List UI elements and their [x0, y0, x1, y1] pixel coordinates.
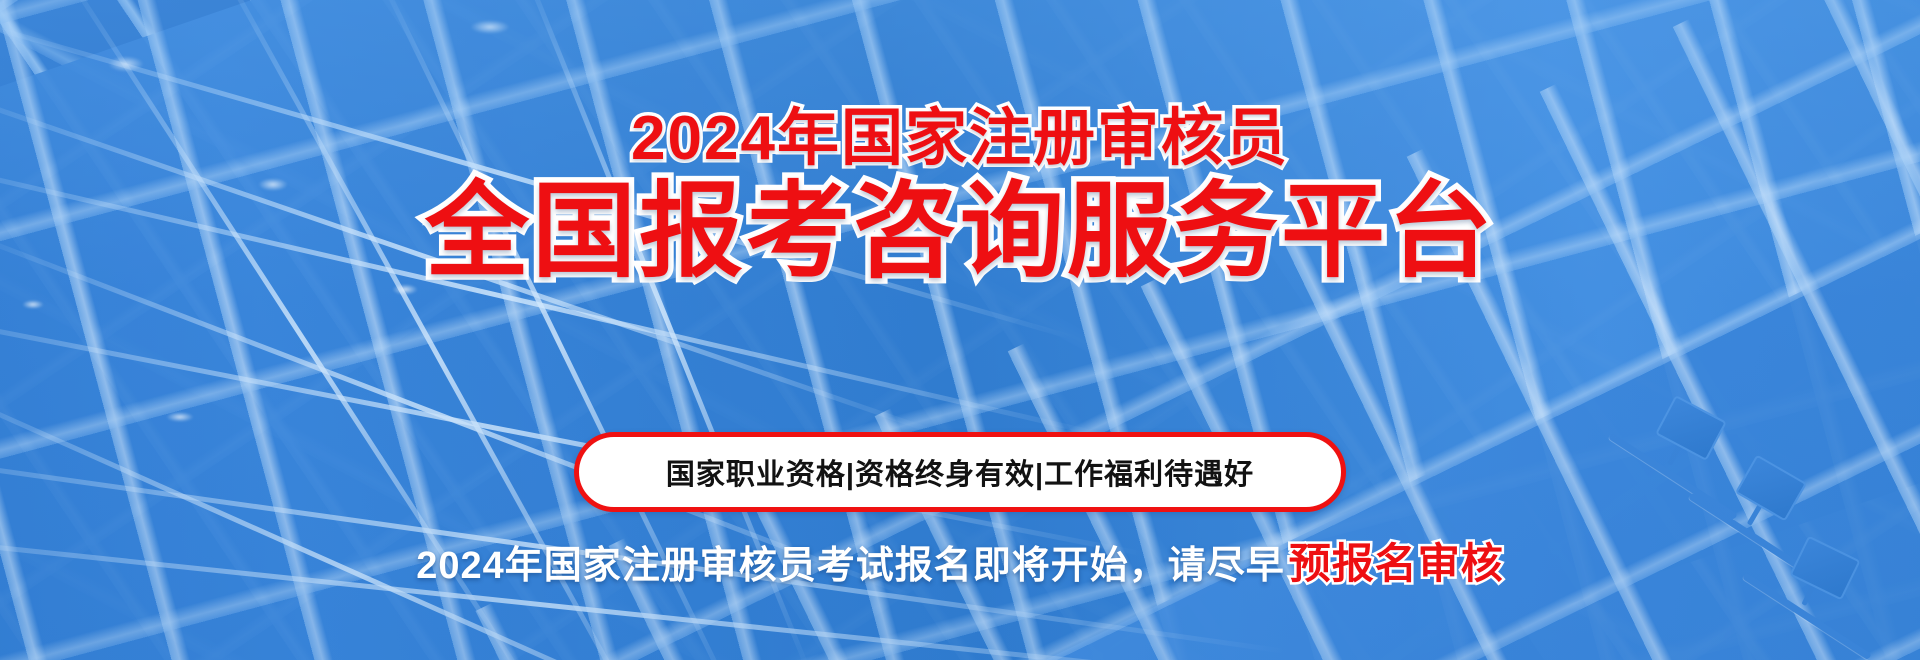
strapline: 2024年国家注册审核员考试报名即将开始，请尽早预报名审核	[0, 530, 1920, 591]
benefits-pill-label: 国家职业资格|资格终身有效|工作福利待遇好	[666, 451, 1254, 493]
benefits-pill[interactable]: 国家职业资格|资格终身有效|工作福利待遇好	[574, 432, 1346, 512]
strapline-normal-text: 2024年国家注册审核员考试报名即将开始，请尽早	[416, 545, 1285, 587]
promo-banner: 2024年国家注册审核员 全国报考咨询服务平台 国家职业资格|资格终身有效|工作…	[0, 0, 1920, 660]
headline-line-2: 全国报考咨询服务平台	[0, 177, 1920, 287]
banner-content: 2024年国家注册审核员 全国报考咨询服务平台 国家职业资格|资格终身有效|工作…	[0, 0, 1920, 660]
headline-block: 2024年国家注册审核员 全国报考咨询服务平台	[0, 106, 1920, 287]
strapline-highlight-text[interactable]: 预报名审核	[1289, 540, 1504, 587]
headline-line-1: 2024年国家注册审核员	[0, 106, 1920, 171]
